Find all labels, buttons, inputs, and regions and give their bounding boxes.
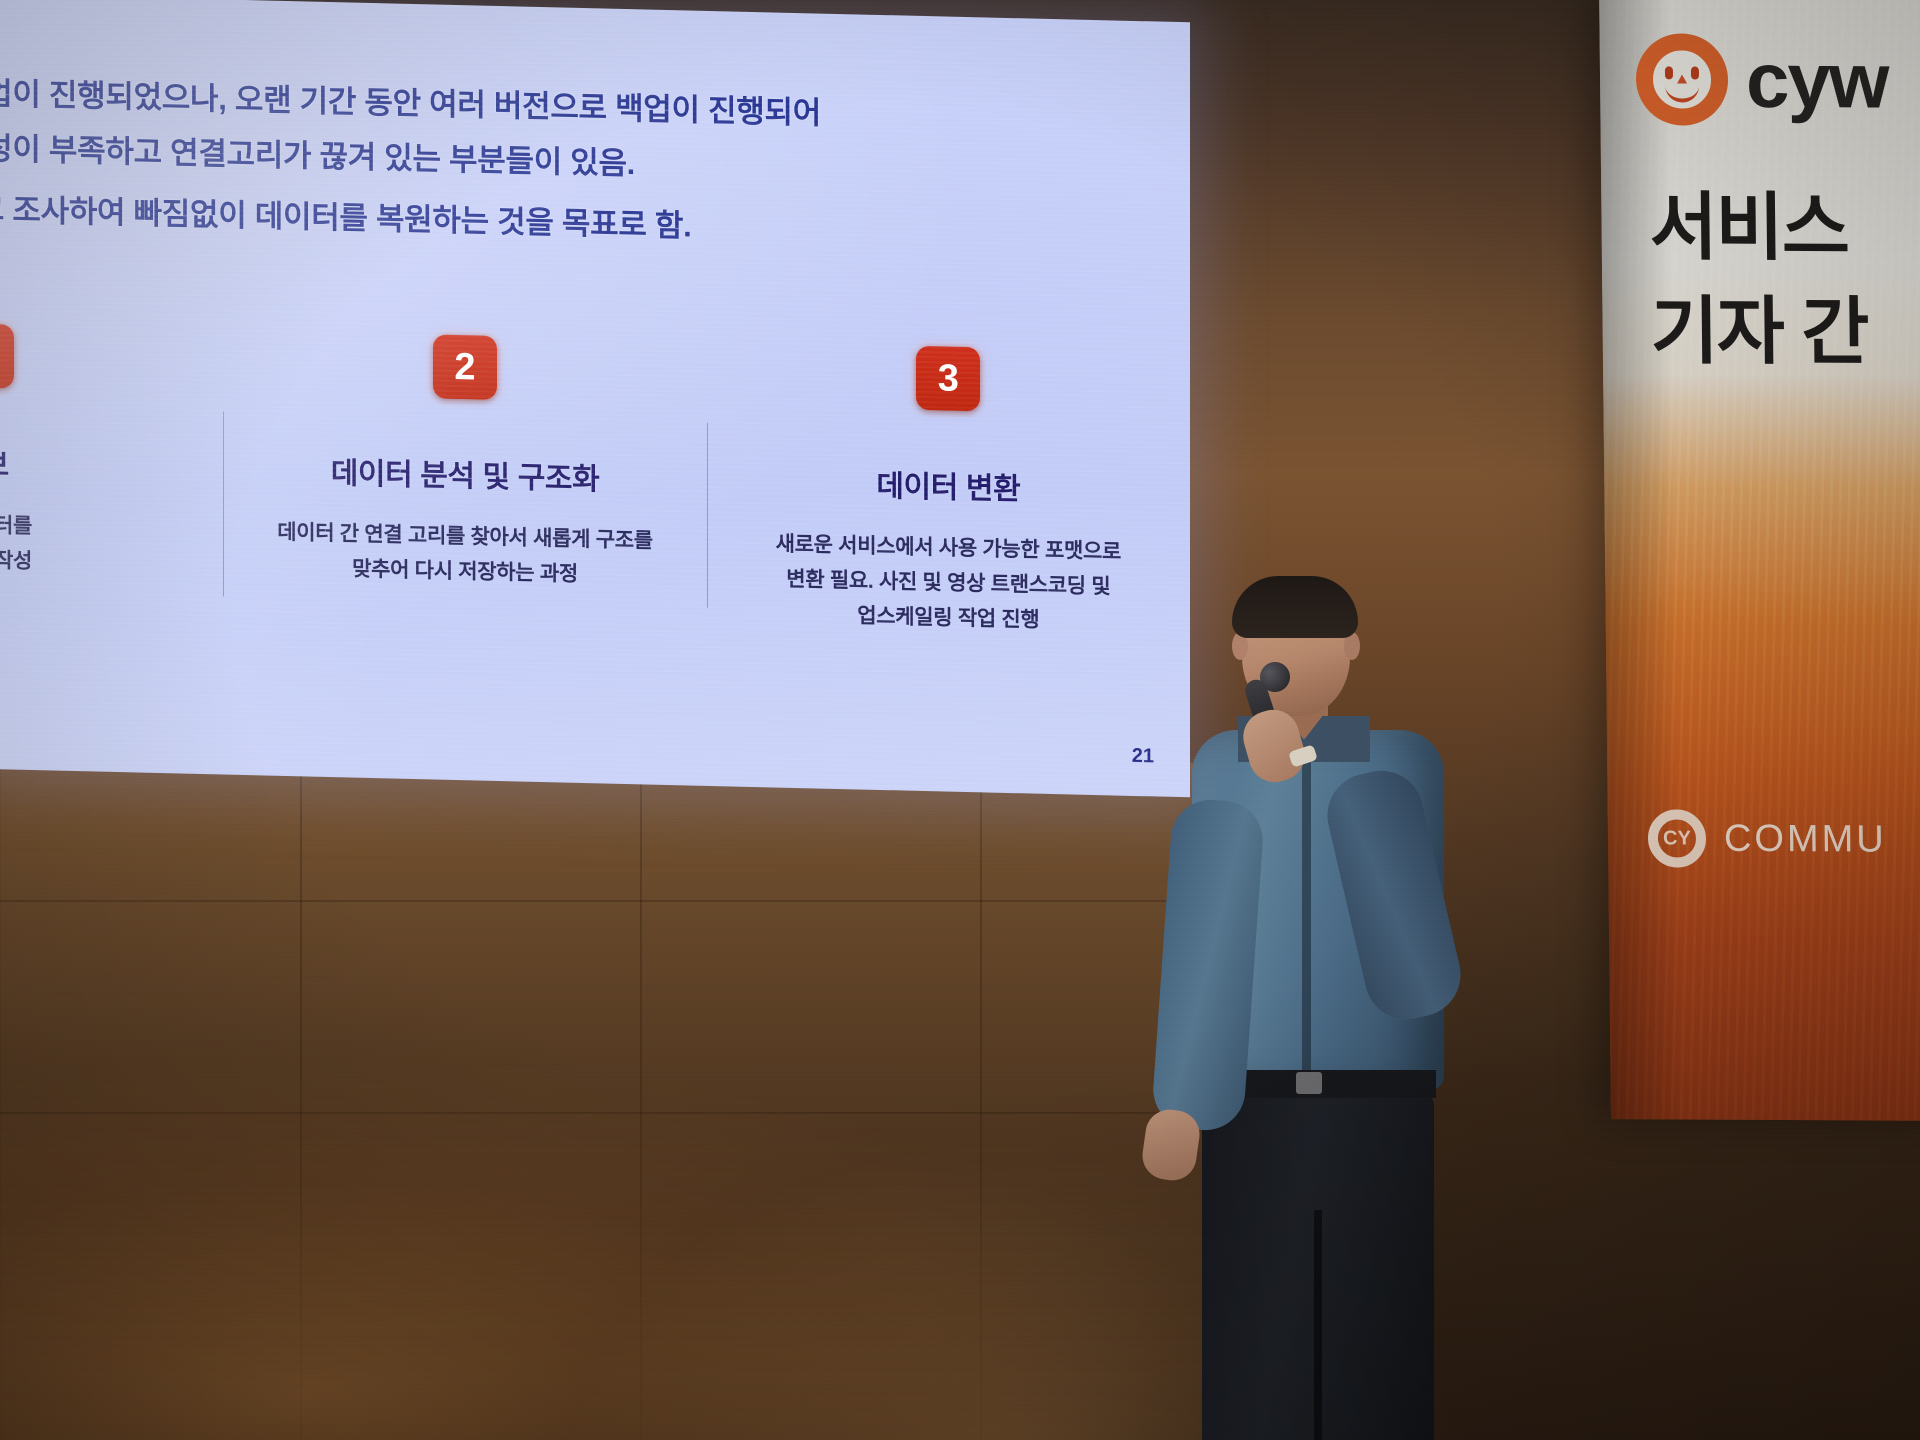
slide-step-3: 3 데이터 변환 새로운 서비스에서 사용 가능한 포맷으로 변환 필요. 사진… (707, 341, 1190, 641)
presenter-shirt-placket (1302, 756, 1311, 1086)
presenter-figure (1120, 570, 1540, 1440)
step-badge-1: 1 (0, 323, 14, 389)
presenter-left-hand (1139, 1107, 1202, 1184)
step-title-3: 데이터 변환 (731, 457, 1166, 511)
slide-content: 양한 방법으로 백업이 진행되었으나, 오랜 기간 동안 여러 버전으로 백업이… (0, 0, 1190, 797)
slide-steps-row: 1 확보 더 데이터를 스트를 작성 2 데이터 분석 및 구조화 데이터 간 … (0, 318, 1190, 641)
step-badge-2: 2 (433, 334, 497, 400)
step-desc-1-line-1: 더 데이터를 (0, 503, 199, 548)
cyworld-smiley-icon (1636, 33, 1729, 125)
slide-step-2: 2 데이터 분석 및 구조화 데이터 간 연결 고리를 찾아서 새롭게 구조를 … (223, 329, 706, 594)
banner-logo-row: cyw (1636, 33, 1888, 126)
step-desc-1: 더 데이터를 스트를 작성 (0, 503, 199, 583)
presenter-leg-gap (1314, 1210, 1322, 1440)
banner-logo-wordmark: cyw (1746, 41, 1888, 120)
sponsor-logo-icon: CY (1648, 809, 1707, 867)
presentation-photo-scene: 양한 방법으로 백업이 진행되었으나, 오랜 기간 동안 여러 버전으로 백업이… (0, 0, 1920, 1440)
smiley-eye-left (1665, 66, 1673, 79)
slide-intro-paragraph: 양한 방법으로 백업이 진행되었으나, 오랜 기간 동안 여러 버전으로 백업이… (0, 61, 1050, 262)
step-title-1: 확보 (0, 435, 199, 489)
event-banner: cyw 서비스 기자 간 CY COMMU (1599, 0, 1920, 1121)
presenter-belt-buckle (1296, 1072, 1322, 1094)
step-desc-2: 데이터 간 연결 고리를 찾아서 새롭게 구조를 맞추어 다시 저장하는 과정 (247, 514, 682, 594)
projection-screen: 양한 방법으로 백업이 진행되었으나, 오랜 기간 동안 여러 버전으로 백업이… (0, 0, 1190, 797)
step-title-2: 데이터 분석 및 구조화 (247, 446, 682, 500)
presenter-hair (1232, 576, 1358, 638)
banner-korean-line-1: 서비스 (1649, 167, 1848, 275)
smiley-eye-right (1691, 67, 1699, 80)
banner-sponsor-row: CY COMMU (1648, 809, 1887, 868)
step-badge-3: 3 (916, 346, 980, 412)
slide-step-1: 1 확보 더 데이터를 스트를 작성 (0, 318, 223, 583)
step-desc-3: 새로운 서비스에서 사용 가능한 포맷으로 변환 필요. 사진 및 영상 트랜스… (731, 525, 1166, 640)
smiley-mouth (1665, 82, 1699, 102)
banner-korean-line-2: 기자 간 (1650, 271, 1868, 379)
sponsor-wordmark: COMMU (1724, 817, 1887, 861)
